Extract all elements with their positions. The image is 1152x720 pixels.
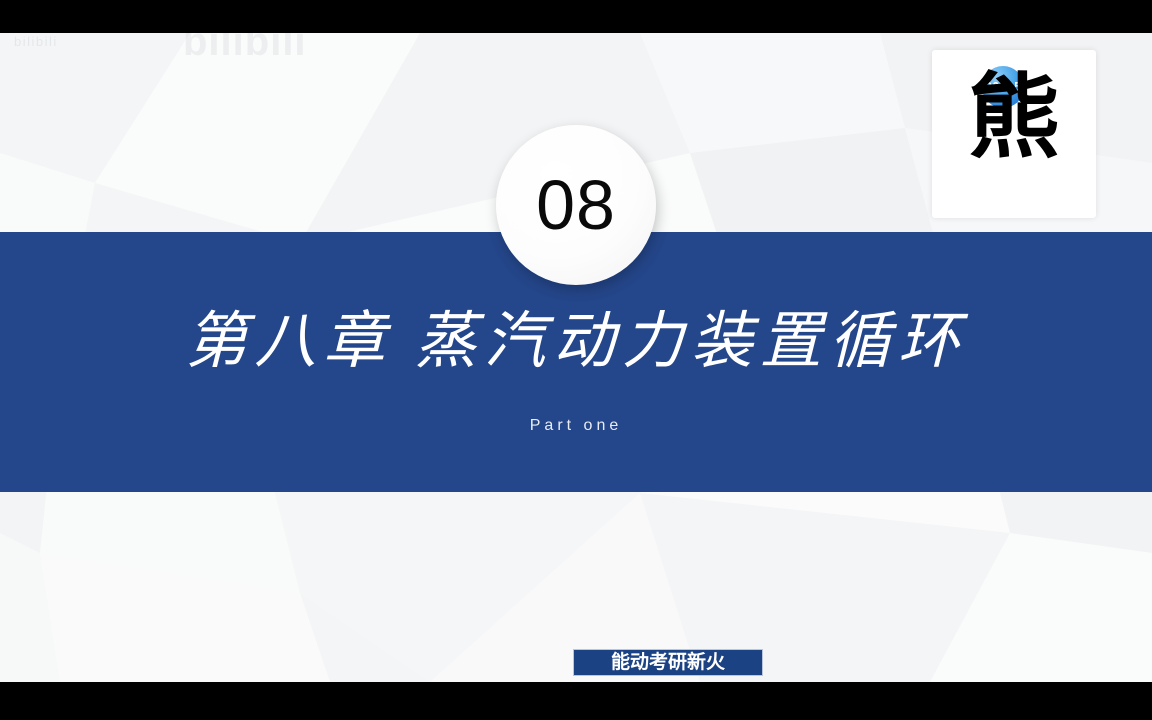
chapter-number-text: 08	[536, 170, 616, 240]
part-label: Part one	[0, 417, 1152, 435]
channel-name-tag: 能动考研新火	[573, 649, 763, 676]
channel-name-text: 能动考研新火	[611, 653, 725, 672]
video-frame: bilibili bilibili 第八章 蒸汽动力装置循环 Part one …	[0, 0, 1152, 720]
bilibili-watermark: bilibili	[183, 33, 307, 65]
page-title: 第八章 蒸汽动力装置循环	[0, 311, 1152, 373]
bear-character-logo: 熊	[932, 72, 1096, 164]
chapter-number-badge: 08	[496, 125, 656, 285]
channel-logo-card: 00:05 熊	[932, 50, 1096, 218]
letterbox-bottom	[0, 682, 1152, 720]
presentation-slide: bilibili bilibili 第八章 蒸汽动力装置循环 Part one …	[0, 33, 1152, 682]
letterbox-top	[0, 0, 1152, 33]
corner-watermark: bilibili	[14, 34, 58, 49]
